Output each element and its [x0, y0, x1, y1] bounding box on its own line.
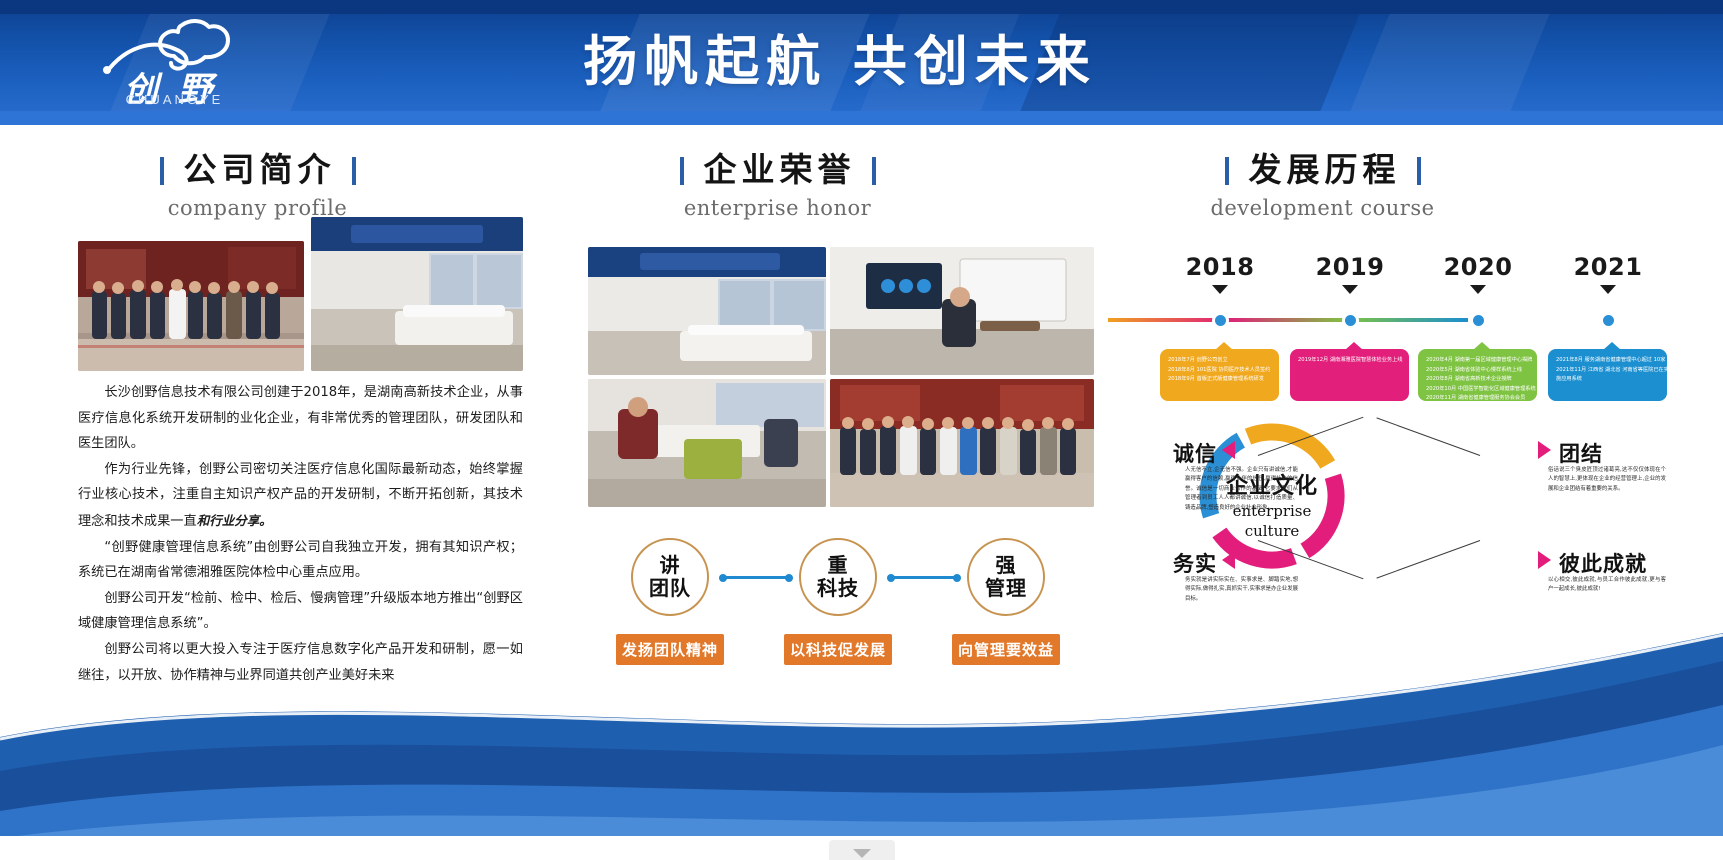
culture-arrow-icon-chengxin [1222, 441, 1235, 459]
culture-line-bicichengjiu [1376, 540, 1480, 579]
culture-label-bicichengjiu: 彼此成就 [1559, 548, 1647, 578]
timeline-axis [1108, 318, 1468, 322]
section-heading-development-course: 发展历程 development course [1155, 150, 1490, 220]
culture-desc-chengxin: 人无信不立,企无信不强。企业只有讲诚信,才能赢得客户的信赖,赢得伙伴的信任,赢得… [1185, 466, 1298, 513]
section-title-cn: 公司简介 [184, 150, 336, 190]
timeline-card-line: 2020年8月 湖南省高新技术企业授牌 [1426, 375, 1530, 385]
photo-company-team [78, 241, 304, 371]
heading-bar-left-icon [1225, 157, 1229, 185]
section-heading-enterprise-honor: 企业荣誉 enterprise honor [625, 150, 930, 220]
timeline-card-line: 施应用系统 [1556, 375, 1660, 385]
header-band-4 [1345, 0, 1556, 125]
timeline-card-line: 2021年8月 服务湖南省健康管理中心超过 10家 [1556, 356, 1660, 366]
timeline-card-notch-icon [1603, 342, 1621, 350]
photo-office-interior [311, 217, 523, 371]
section-title-en: development course [1155, 196, 1490, 220]
culture-label-tuanjie: 团结 [1559, 438, 1603, 468]
timeline-card-line: 2020年11月 湖南省健康管理服务协会会员 [1426, 394, 1530, 404]
keyword-connector-2 [890, 576, 958, 579]
heading-bar-right-icon [352, 157, 356, 185]
photo-honor-presentation [830, 247, 1094, 375]
timeline-caret-icon-2018 [1212, 285, 1228, 294]
culture-desc-bicichengjiu: 以心相交,彼此成就,与员工合作彼此成就,更与客户一起成长,彼此成就! [1548, 576, 1666, 595]
culture-arrow-icon-wushi [1222, 551, 1235, 569]
timeline-dot-2020[interactable] [1470, 312, 1487, 329]
poster-canvas: 创 野 CHUANGYE 扬帆起航 共创未来 公司简介 company prof… [0, 0, 1723, 860]
keyword-circle-label: 重科技 [817, 554, 859, 600]
timeline-card-2019[interactable]: 2019年12月 湖南湘雅医院智慧体检业务上线 [1290, 349, 1409, 401]
keyword-connector-1 [722, 576, 790, 579]
keyword-circle-management[interactable]: 强管理 [967, 538, 1045, 616]
keyword-line-2: 科技 [817, 576, 859, 600]
culture-desc-wushi: 务实就是讲实际实在、实事求是、脚踏实地,想得实际,做得扎实,真抓实干,实事求是办… [1185, 576, 1298, 604]
scroll-down-caret-icon[interactable] [853, 849, 871, 858]
logo-subtitle: CHUANGYE [92, 92, 257, 107]
heading-bar-left-icon [160, 157, 164, 185]
section-title-cn: 发展历程 [1249, 150, 1401, 190]
timeline-caret-icon-2019 [1342, 285, 1358, 294]
timeline-dot-2019[interactable] [1342, 312, 1359, 329]
profile-paragraph: 长沙创野信息技术有限公司创建于2018年，是湖南高新技术企业，从事医疗信息化系统… [78, 380, 523, 457]
profile-paragraph: “创野健康管理信息系统”由创野公司自我独立开发，拥有其知识产权；系统已在湖南省常… [78, 535, 523, 586]
poster-main-title: 扬帆起航 共创未来 [470, 24, 1210, 100]
timeline-card-line: 2018年9月 首版正式版健康管理系统研发 [1168, 375, 1272, 385]
timeline-dot-2018[interactable] [1212, 312, 1229, 329]
timeline-card-2018[interactable]: 2018年7月 创野公司创立 2018年8月 101医院 协同医疗技术人员签约 … [1160, 349, 1279, 401]
culture-label-chengxin: 诚信 [1173, 438, 1217, 468]
culture-arrow-icon-tuanjie [1538, 441, 1551, 459]
timeline-caret-icon-2021 [1600, 285, 1616, 294]
keyword-line-1: 强 [996, 553, 1017, 577]
keyword-line-2: 团队 [649, 576, 691, 600]
photo-honor-group [830, 379, 1094, 507]
culture-center-en-2: culture [1196, 522, 1348, 540]
keyword-circle-technology[interactable]: 重科技 [799, 538, 877, 616]
timeline-card-line: 2021年11月 江西省 湖北省 河南省等医院已在实 [1556, 366, 1660, 376]
timeline-year-2019: 2019 [1310, 253, 1390, 281]
timeline-card-notch-icon [1345, 342, 1363, 350]
bottom-white-bar [0, 836, 1723, 860]
timeline-year-2018: 2018 [1180, 253, 1260, 281]
header-top-strip [0, 0, 1723, 14]
section-heading-cn-row: 发展历程 [1155, 150, 1490, 190]
section-title-en: enterprise honor [625, 196, 930, 220]
timeline-card-line: 2020年4月 湖南第一届区域健康管理中心揭牌 [1426, 356, 1530, 366]
culture-line-tuanjie [1376, 417, 1480, 456]
keyword-line-1: 重 [828, 553, 849, 577]
bottom-wave-decoration [0, 625, 1723, 860]
poster-header: 创 野 CHUANGYE 扬帆起航 共创未来 [0, 0, 1723, 125]
culture-desc-tuanjie: 俗话说三个臭皮匠顶过诸葛亮,这不仅仅体现在个人的智慧上,更体现在企业的经营管理上… [1548, 466, 1666, 494]
timeline-card-line: 2020年10月 中国医学智能化区域健康管理系统 [1426, 385, 1530, 395]
timeline-card-notch-icon [1215, 342, 1233, 350]
section-heading-company-profile: 公司简介 company profile [105, 150, 410, 220]
timeline-year-2020: 2020 [1438, 253, 1518, 281]
section-heading-cn-row: 企业荣誉 [625, 150, 930, 190]
heading-bar-left-icon [680, 157, 684, 185]
timeline-caret-icon-2020 [1470, 285, 1486, 294]
timeline-card-2021[interactable]: 2021年8月 服务湖南省健康管理中心超过 10家 2021年11月 江西省 湖… [1548, 349, 1667, 401]
culture-label-wushi: 务实 [1173, 548, 1217, 578]
heading-bar-right-icon [872, 157, 876, 185]
keyword-circle-team[interactable]: 讲团队 [631, 538, 709, 616]
heading-bar-right-icon [1417, 157, 1421, 185]
timeline-card-line: 2018年8月 101医院 协同医疗技术人员签约 [1168, 366, 1272, 376]
keyword-line-2: 管理 [985, 576, 1027, 600]
timeline-card-line: 2018年7月 创野公司创立 [1168, 356, 1272, 366]
keyword-circle-label: 强管理 [985, 554, 1027, 600]
timeline-card-notch-icon [1473, 342, 1491, 350]
keyword-line-1: 讲 [660, 553, 681, 577]
section-heading-cn-row: 公司简介 [105, 150, 410, 190]
culture-arrow-icon-bicichengjiu [1538, 551, 1551, 569]
profile-paragraph-body: 作为行业先锋，创野公司密切关注医疗信息化国际最新动态，始终掌握行业核心技术，注重… [78, 462, 523, 529]
timeline-card-2020[interactable]: 2020年4月 湖南第一届区域健康管理中心揭牌 2020年5月 湖南省体验中心慢… [1418, 349, 1537, 401]
keyword-circle-label: 讲团队 [649, 554, 691, 600]
profile-paragraph: 作为行业先锋，创野公司密切关注医疗信息化国际最新动态，始终掌握行业核心技术，注重… [78, 457, 523, 535]
timeline-card-line: 2020年5月 湖南省体验中心慢样系统上线 [1426, 366, 1530, 376]
profile-handwritten-fragment: 和行业分享。 [197, 513, 272, 528]
photo-honor-office-1 [588, 247, 826, 375]
timeline-year-2021: 2021 [1568, 253, 1648, 281]
timeline-card-line: 2019年12月 湖南湘雅医院智慧体检业务上线 [1298, 356, 1402, 366]
photo-honor-workspace [588, 379, 826, 507]
section-title-cn: 企业荣誉 [704, 150, 856, 190]
timeline-dot-2021[interactable] [1600, 312, 1617, 329]
